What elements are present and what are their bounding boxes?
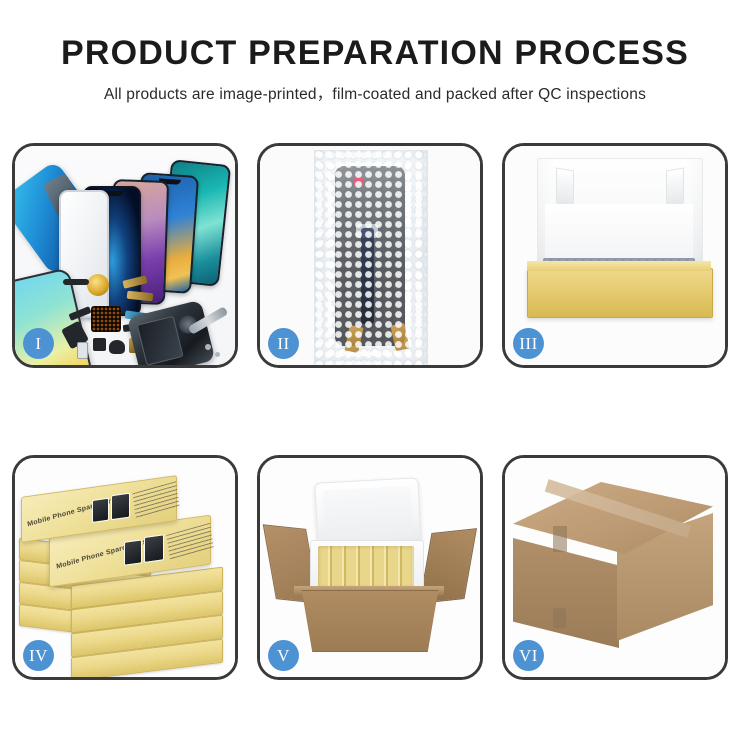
- page-header: PRODUCT PREPARATION PROCESS All products…: [0, 0, 750, 104]
- bubble-wrap-bag: [314, 150, 428, 365]
- step-card-2: II: [257, 143, 483, 368]
- carton-front-panel: [294, 590, 446, 652]
- step-badge-3: III: [513, 328, 544, 359]
- lid-flap-left: [556, 167, 574, 206]
- step-badge-5: V: [268, 640, 299, 671]
- page-title: PRODUCT PREPARATION PROCESS: [0, 0, 750, 72]
- earpiece-part: [63, 279, 89, 285]
- step-badge-6: VI: [513, 640, 544, 671]
- sim-tray-part: [77, 342, 88, 359]
- lid-flap-right: [666, 167, 684, 206]
- step-badge-2: II: [268, 328, 299, 359]
- camera-module-part: [109, 340, 125, 354]
- speaker-coil-part: [87, 274, 109, 296]
- retail-box-window: [124, 539, 142, 566]
- speaker-mesh-part: [91, 306, 121, 332]
- step-card-1: I: [12, 143, 238, 368]
- gold-contact-part: [390, 323, 409, 351]
- step-badge-4: IV: [23, 640, 54, 671]
- carton-seam-lower: [553, 608, 566, 628]
- screen-flex-cable: [361, 228, 374, 324]
- retail-box-spec-lines: [166, 523, 213, 560]
- yellow-boxes-inside: [318, 546, 414, 588]
- yellow-kraft-tray-box: [527, 268, 713, 318]
- page-subtitle: All products are image-printed，film-coat…: [0, 72, 750, 104]
- retail-box-window: [111, 493, 130, 521]
- retail-box-window: [92, 498, 109, 523]
- retail-box-window: [144, 534, 164, 563]
- step-card-5: V: [257, 455, 483, 680]
- screw-part: [215, 352, 220, 357]
- screw-part: [205, 344, 211, 350]
- retail-box-spec-lines: [132, 481, 179, 518]
- process-steps-grid: I II III: [12, 143, 738, 680]
- step-badge-1: I: [23, 328, 54, 359]
- step-card-3: III: [502, 143, 728, 368]
- carton-seam-upper: [553, 526, 567, 552]
- step-card-4: Mobile Phone Spare Parts Mobile Phone Sp…: [12, 455, 238, 680]
- white-foam-sheet: [545, 204, 693, 266]
- step-card-6: VI: [502, 455, 728, 680]
- vibration-motor-part: [93, 338, 106, 351]
- qc-sticker: [353, 178, 364, 185]
